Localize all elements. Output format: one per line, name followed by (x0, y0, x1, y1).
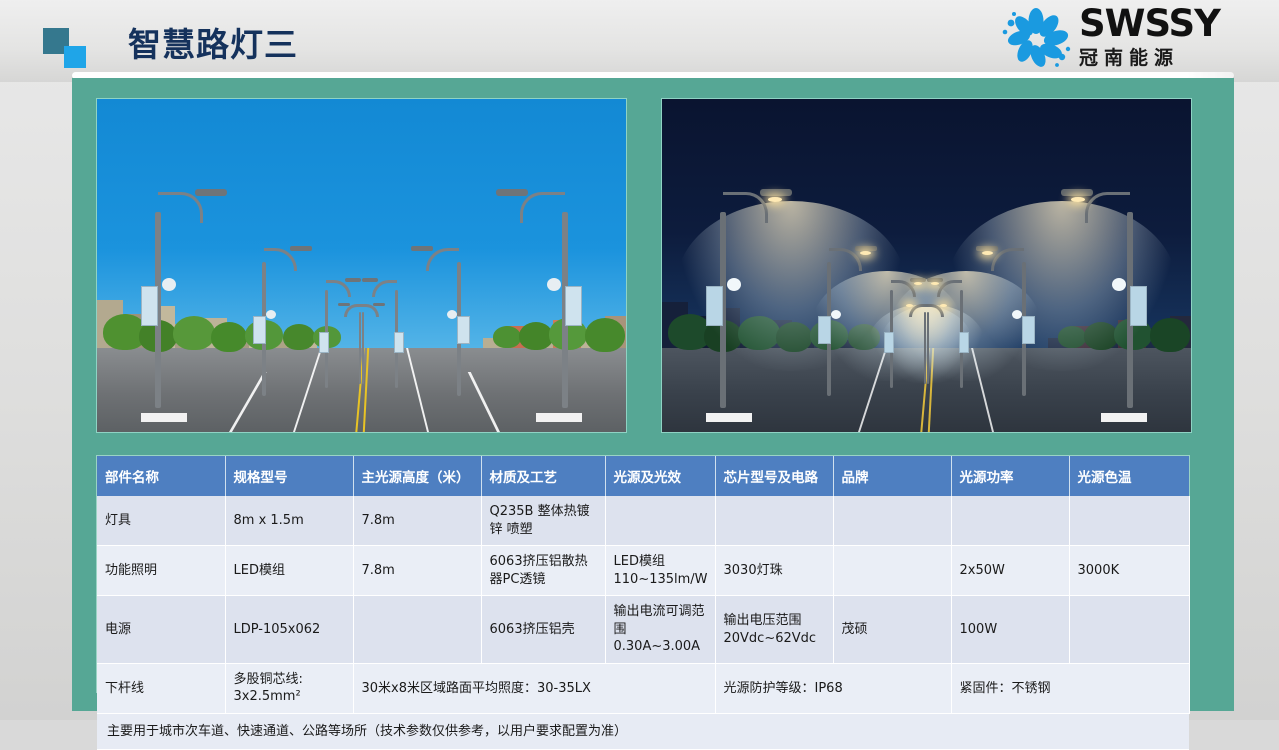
cell-spec-model: 8m x 1.5m (225, 496, 353, 546)
cell-part-name: 功能照明 (97, 546, 225, 596)
street-light-pole-lit (978, 248, 1026, 396)
cell-power: 2x50W (951, 546, 1069, 596)
street-light-pole (262, 248, 310, 396)
cell-cct (1069, 596, 1189, 664)
cell-material: Q235B 整体热镀锌 喷塑 (481, 496, 605, 546)
street-light-pole (338, 304, 364, 384)
slide-header: 智慧路灯三 (0, 0, 1279, 82)
square-blue-icon (64, 46, 86, 68)
logo-text-block: SWSSY 冠南能源 (1079, 4, 1220, 70)
table-row: 功能照明 LED模组 7.8m 6063挤压铝散热器PC透镜 LED模组 110… (97, 546, 1189, 596)
company-logo: SWSSY 冠南能源 (997, 2, 1265, 76)
cell-part-name: 灯具 (97, 496, 225, 546)
cell-fastener: 紧固件：不锈钢 (951, 663, 1189, 713)
table-row: 灯具 8m x 1.5m 7.8m Q235B 整体热镀锌 喷塑 (97, 496, 1189, 546)
table-header-row: 部件名称 规格型号 主光源高度（米） 材质及工艺 光源及光效 芯片型号及电路 品… (97, 456, 1189, 496)
table-footer-row: 主要用于城市次车道、快速通道、公路等场所（技术参数仅供参考，以用户要求配置为准） (97, 713, 1189, 750)
cell-power (951, 496, 1069, 546)
cell-light-source: LED模组 110~135lm/W (605, 546, 715, 596)
cell-spec-model: 多股铜芯线: 3x2.5mm² (225, 663, 353, 713)
street-light-pole (155, 192, 225, 408)
cell-chip-circuit (715, 496, 833, 546)
table-row: 电源 LDP-105x062 6063挤压铝壳 输出电流可调范围0.30A~3.… (97, 596, 1189, 664)
table-footnote: 主要用于城市次车道、快速通道、公路等场所（技术参数仅供参考，以用户要求配置为准） (97, 713, 1189, 750)
cell-light-height: 7.8m (353, 496, 481, 546)
cell-cct (1069, 496, 1189, 546)
street-light-nighttime-image (661, 98, 1192, 433)
cell-spec-model: LDP-105x062 (225, 596, 353, 664)
cell-power: 100W (951, 596, 1069, 664)
logo-wordmark: SWSSY (1079, 4, 1220, 44)
logo-subtitle: 冠南能源 (1079, 46, 1220, 70)
street-light-pole-lit (1063, 192, 1133, 408)
cell-material: 6063挤压铝散热器PC透镜 (481, 546, 605, 596)
slide: 智慧路灯三 (0, 0, 1279, 720)
cell-light-height: 7.8m (353, 546, 481, 596)
cell-light-source: 输出电流可调范围0.30A~3.00A (605, 596, 715, 664)
cell-material: 6063挤压铝壳 (481, 596, 605, 664)
spec-table: 部件名称 规格型号 主光源高度（米） 材质及工艺 光源及光效 芯片型号及电路 品… (97, 456, 1190, 750)
col-header-cct: 光源色温 (1069, 456, 1189, 496)
street-light-pole-lit (827, 248, 875, 396)
street-light-pole-lit (720, 192, 790, 408)
cell-illuminance: 30米x8米区域路面平均照度：30-35LX (353, 663, 715, 713)
street-light-daytime-image (96, 98, 627, 433)
cell-protection-rating: 光源防护等级：IP68 (715, 663, 951, 713)
cell-brand: 茂硕 (833, 596, 951, 664)
cell-brand (833, 546, 951, 596)
cell-brand (833, 496, 951, 546)
page-title: 智慧路灯三 (128, 18, 298, 66)
cell-spec-model: LED模组 (225, 546, 353, 596)
water-droplet-petal-emblem-icon (997, 5, 1075, 71)
col-header-spec-model: 规格型号 (225, 456, 353, 496)
col-header-chip-circuit: 芯片型号及电路 (715, 456, 833, 496)
col-header-power: 光源功率 (951, 456, 1069, 496)
specification-table: 部件名称 规格型号 主光源高度（米） 材质及工艺 光源及光效 芯片型号及电路 品… (96, 455, 1190, 693)
cell-light-height (353, 596, 481, 664)
col-header-light-height: 主光源高度（米） (353, 456, 481, 496)
street-light-pole (413, 248, 461, 396)
col-header-material: 材质及工艺 (481, 456, 605, 496)
col-header-light-source: 光源及光效 (605, 456, 715, 496)
title-decoration-icon (38, 28, 90, 68)
street-light-pole-lit (903, 304, 929, 384)
cell-cct: 3000K (1069, 546, 1189, 596)
street-light-pole (498, 192, 568, 408)
cell-chip-circuit: 输出电压范围20Vdc~62Vdc (715, 596, 833, 664)
col-header-part-name: 部件名称 (97, 456, 225, 496)
cell-chip-circuit: 3030灯珠 (715, 546, 833, 596)
table-row: 下杆线 多股铜芯线: 3x2.5mm² 30米x8米区域路面平均照度：30-35… (97, 663, 1189, 713)
cell-part-name: 下杆线 (97, 663, 225, 713)
col-header-brand: 品牌 (833, 456, 951, 496)
cell-part-name: 电源 (97, 596, 225, 664)
cell-light-source (605, 496, 715, 546)
